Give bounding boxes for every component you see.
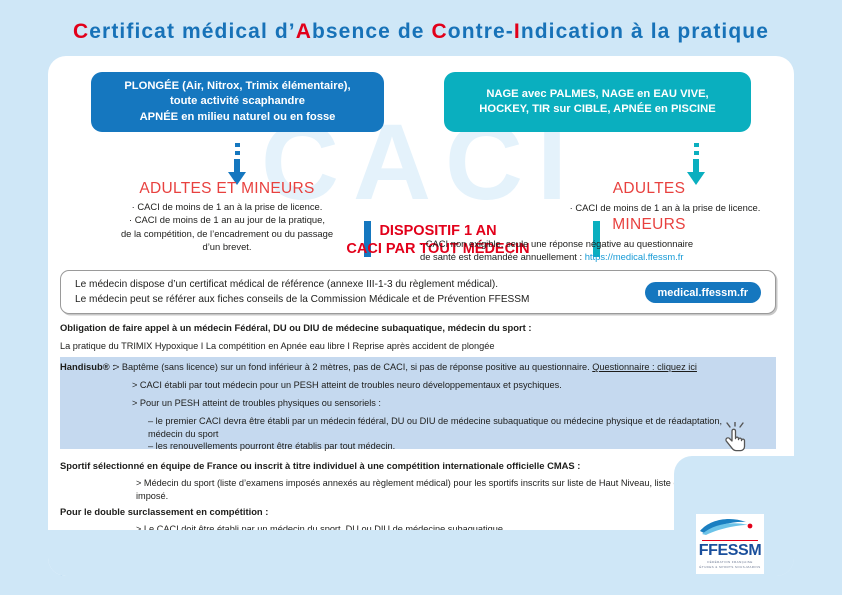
handisub-line-2: > CACI établi par tout médecin pour un P… <box>132 379 772 392</box>
handisub-line-3: > Pour un PESH atteint de troubles physi… <box>132 397 772 410</box>
title-capital: C <box>73 20 89 43</box>
handisub-line-4: – le premier CACI devra être établi par … <box>148 415 768 441</box>
ffessm-logo-rule <box>702 540 758 541</box>
ffessm-logo-subtitle: FÉDÉRATION FRANÇAISE ÉTUDES & SPORTS SOU… <box>696 560 764 569</box>
medical-ffessm-link[interactable]: https://medical.ffessm.fr <box>585 251 684 262</box>
obligation-body: La pratique du TRIMIX Hypoxique I La com… <box>60 340 760 353</box>
title-text: ertificat médical d’ <box>89 20 295 43</box>
right-column-heading-minors: MINEURS <box>544 216 754 234</box>
ffessm-wave-icon <box>696 514 764 540</box>
cmas-heading: Sportif sélectionné en équipe de France … <box>60 460 766 471</box>
surclassement-heading: Pour le double surclassement en compétit… <box>60 506 766 517</box>
reference-line-2: Le médecin peut se référer aux fiches co… <box>75 293 635 308</box>
title-text: ndication à la pratique <box>521 20 769 43</box>
ffessm-logo-text: FFESSM <box>696 542 764 560</box>
cmas-body: > Médecin du sport (liste d’examens impo… <box>136 477 766 503</box>
hand-cursor-icon <box>720 422 750 459</box>
questionnaire-link[interactable]: Questionnaire : cliquez ici <box>592 362 697 372</box>
reference-box-text: Le médecin dispose d’un certificat médic… <box>75 278 635 307</box>
arrow-down-right <box>685 143 707 185</box>
title-capital: A <box>296 20 312 43</box>
main-card: CACI PLONGÉE (Air, Nitrox, Trimix élémen… <box>48 56 794 576</box>
pill-plongee: PLONGÉE (Air, Nitrox, Trimix élémentaire… <box>91 72 384 132</box>
obligation-heading: Obligation de faire appel à un médecin F… <box>60 322 760 333</box>
pill-plongee-label: PLONGÉE (Air, Nitrox, Trimix élémentaire… <box>124 79 350 126</box>
handisub-label: Handisub® : <box>60 361 115 372</box>
handisub-line-1: > Baptême (sans licence) sur un fond inf… <box>114 361 774 374</box>
title-capital: I <box>514 20 521 43</box>
title-text: bsence de <box>312 20 432 43</box>
right-column-body-minors: · CACI non exigible, seule une réponse n… <box>420 237 786 264</box>
left-column-heading: ADULTES ET MINEURS <box>66 180 388 198</box>
arrow-down-left <box>226 143 248 185</box>
handisub-text: > Baptême (sans licence) sur un fond inf… <box>114 362 592 372</box>
title-capital: C <box>432 20 448 43</box>
pill-nage: NAGE avec PALMES, NAGE en EAU VIVE,HOCKE… <box>444 72 751 132</box>
reference-box: Le médecin dispose d’un certificat médic… <box>60 270 776 314</box>
poster-root: Certificat médical d’Absence de Contre-I… <box>0 0 842 595</box>
page-title: Certificat médical d’Absence de Contre-I… <box>0 20 842 44</box>
right-column-body-adults: · CACI de moins de 1 an à la prise de li… <box>544 201 786 214</box>
pill-nage-label: NAGE avec PALMES, NAGE en EAU VIVE,HOCKE… <box>479 87 715 118</box>
right-column-heading-adults: ADULTES <box>544 180 754 198</box>
title-text: ontre- <box>448 20 514 43</box>
reference-line-1: Le médecin dispose d’un certificat médic… <box>75 278 635 293</box>
medical-ffessm-button[interactable]: medical.ffessm.fr <box>645 282 761 303</box>
handisub-line-5: – les renouvellements pourront être étab… <box>148 440 768 453</box>
ffessm-logo: FFESSM FÉDÉRATION FRANÇAISE ÉTUDES & SPO… <box>696 514 764 574</box>
